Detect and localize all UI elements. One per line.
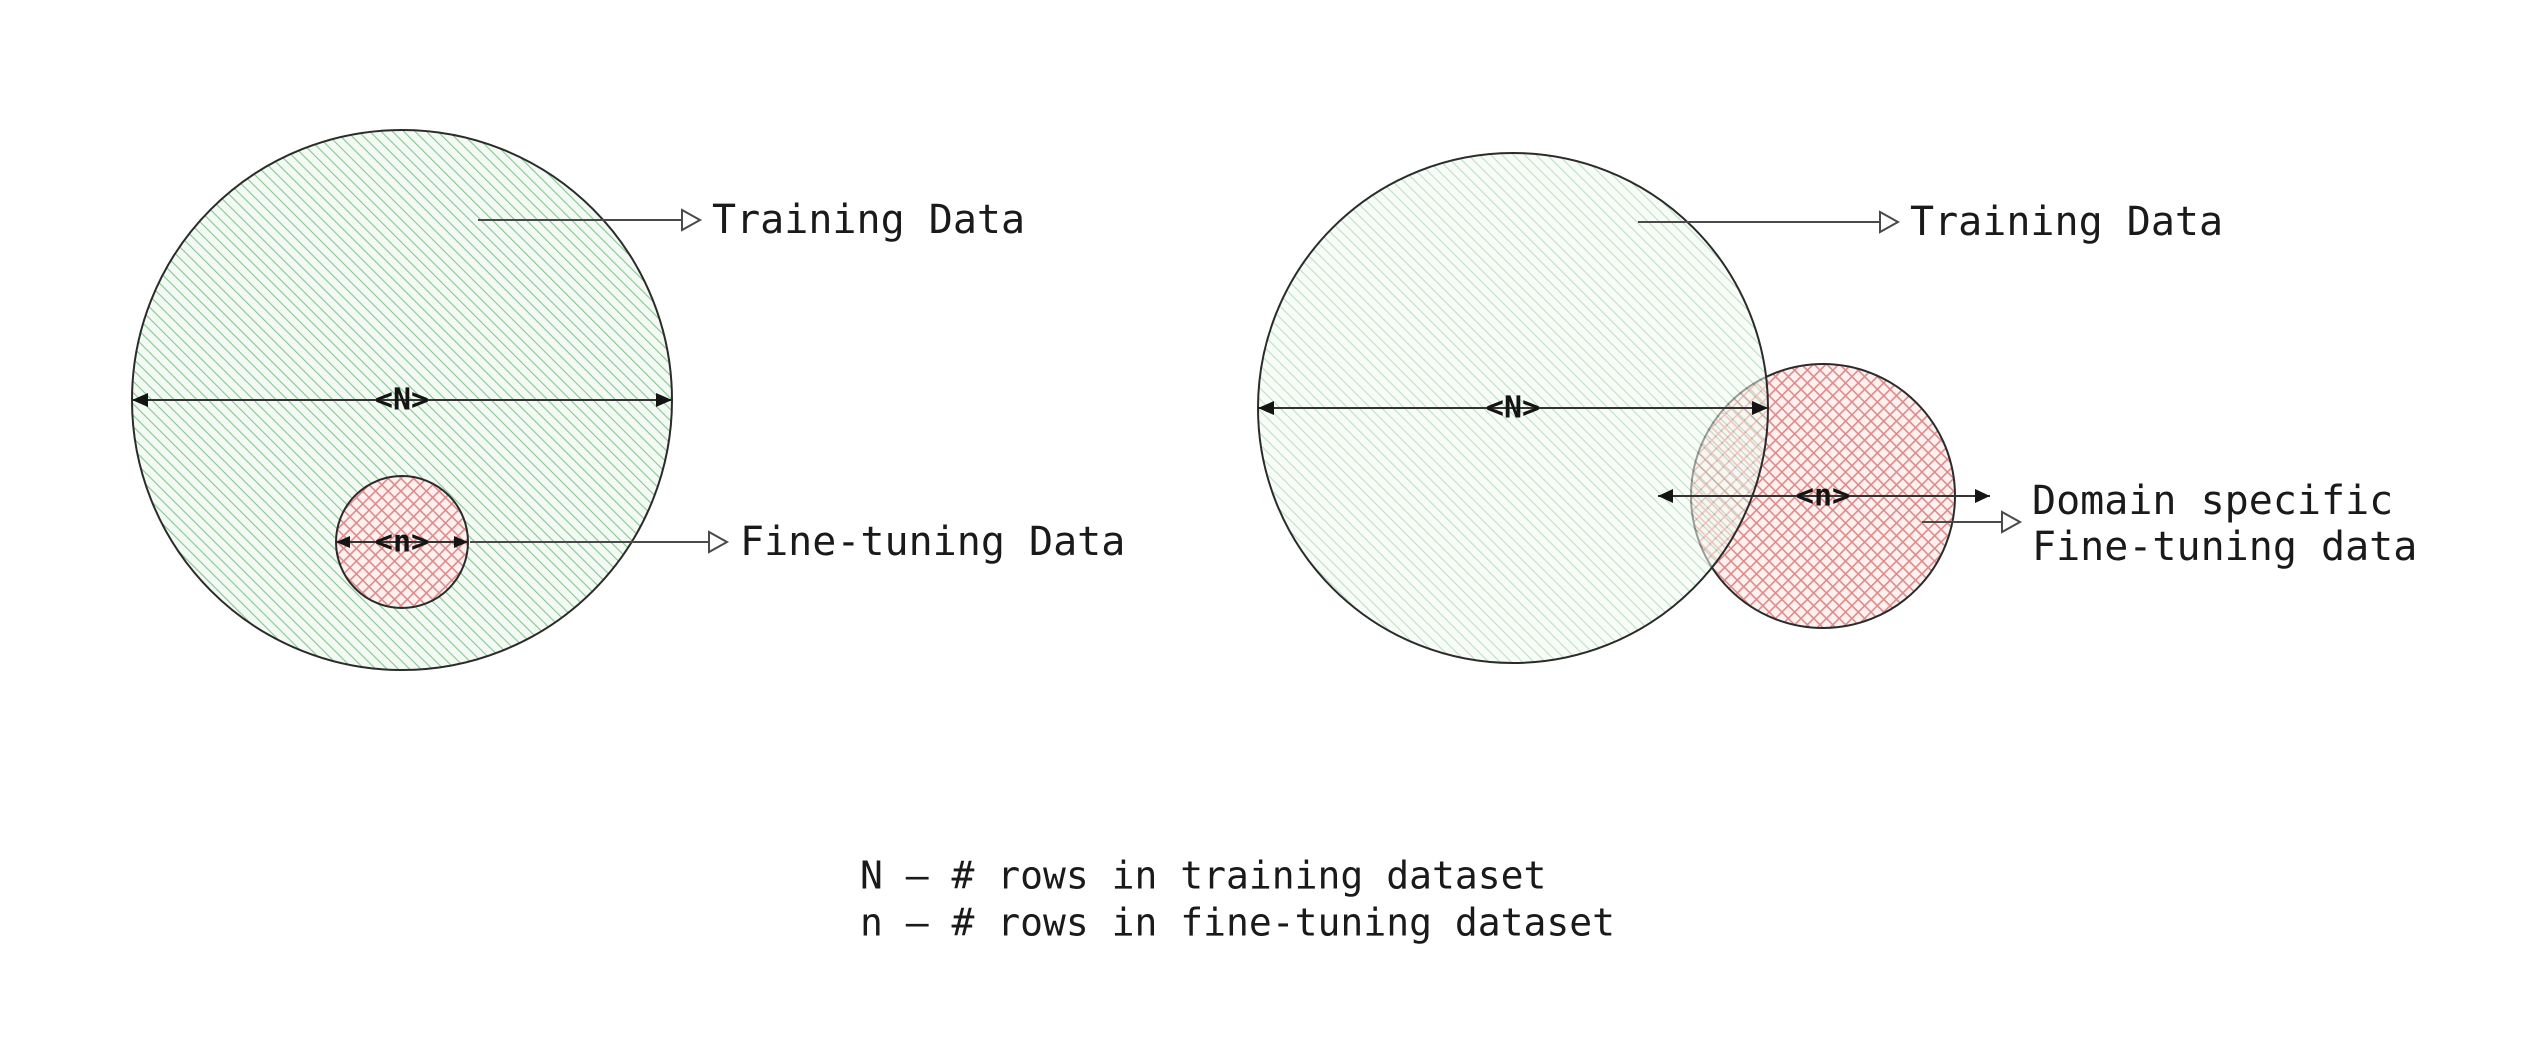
notation-legend: N – # rows in training dataset n – # row… [860,854,1615,945]
panel-left: <N> <n> Training Data Fine-tunin [132,130,1125,670]
left-fine-tuning-data-label: Fine-tuning Data [740,519,1125,565]
arrowhead-icon [709,532,727,552]
arrowhead-icon [682,210,700,230]
right-training-data-label: Training Data [1910,199,2223,245]
arrowhead-icon [2002,512,2020,532]
right-training-dimension-label: <N> [1486,391,1540,426]
right-domain-specific-callout: Domain specific Fine-tuning data [1922,478,2417,570]
right-domain-specific-label-line2: Fine-tuning data [2032,524,2417,570]
arrowhead-icon [1880,212,1898,232]
left-training-data-label: Training Data [712,197,1025,243]
venn-diagram-canvas: <N> <n> Training Data Fine-tunin [0,0,2522,1054]
right-domain-specific-label-line1: Domain specific [2032,478,2393,524]
legend-line-N: N – # rows in training dataset [860,854,1546,898]
left-fine-tuning-dimension-label: <n> [375,525,429,560]
left-training-dimension-label: <N> [375,383,429,418]
right-training-data-callout: Training Data [1638,199,2223,245]
panel-right: <N> <n> Training Data Domain specific F [1258,153,2417,663]
right-fine-tuning-dimension-label: <n> [1796,479,1850,514]
legend-line-n: n – # rows in fine-tuning dataset [860,901,1615,945]
diagram-root: <N> <n> Training Data Fine-tunin [0,0,2522,1054]
